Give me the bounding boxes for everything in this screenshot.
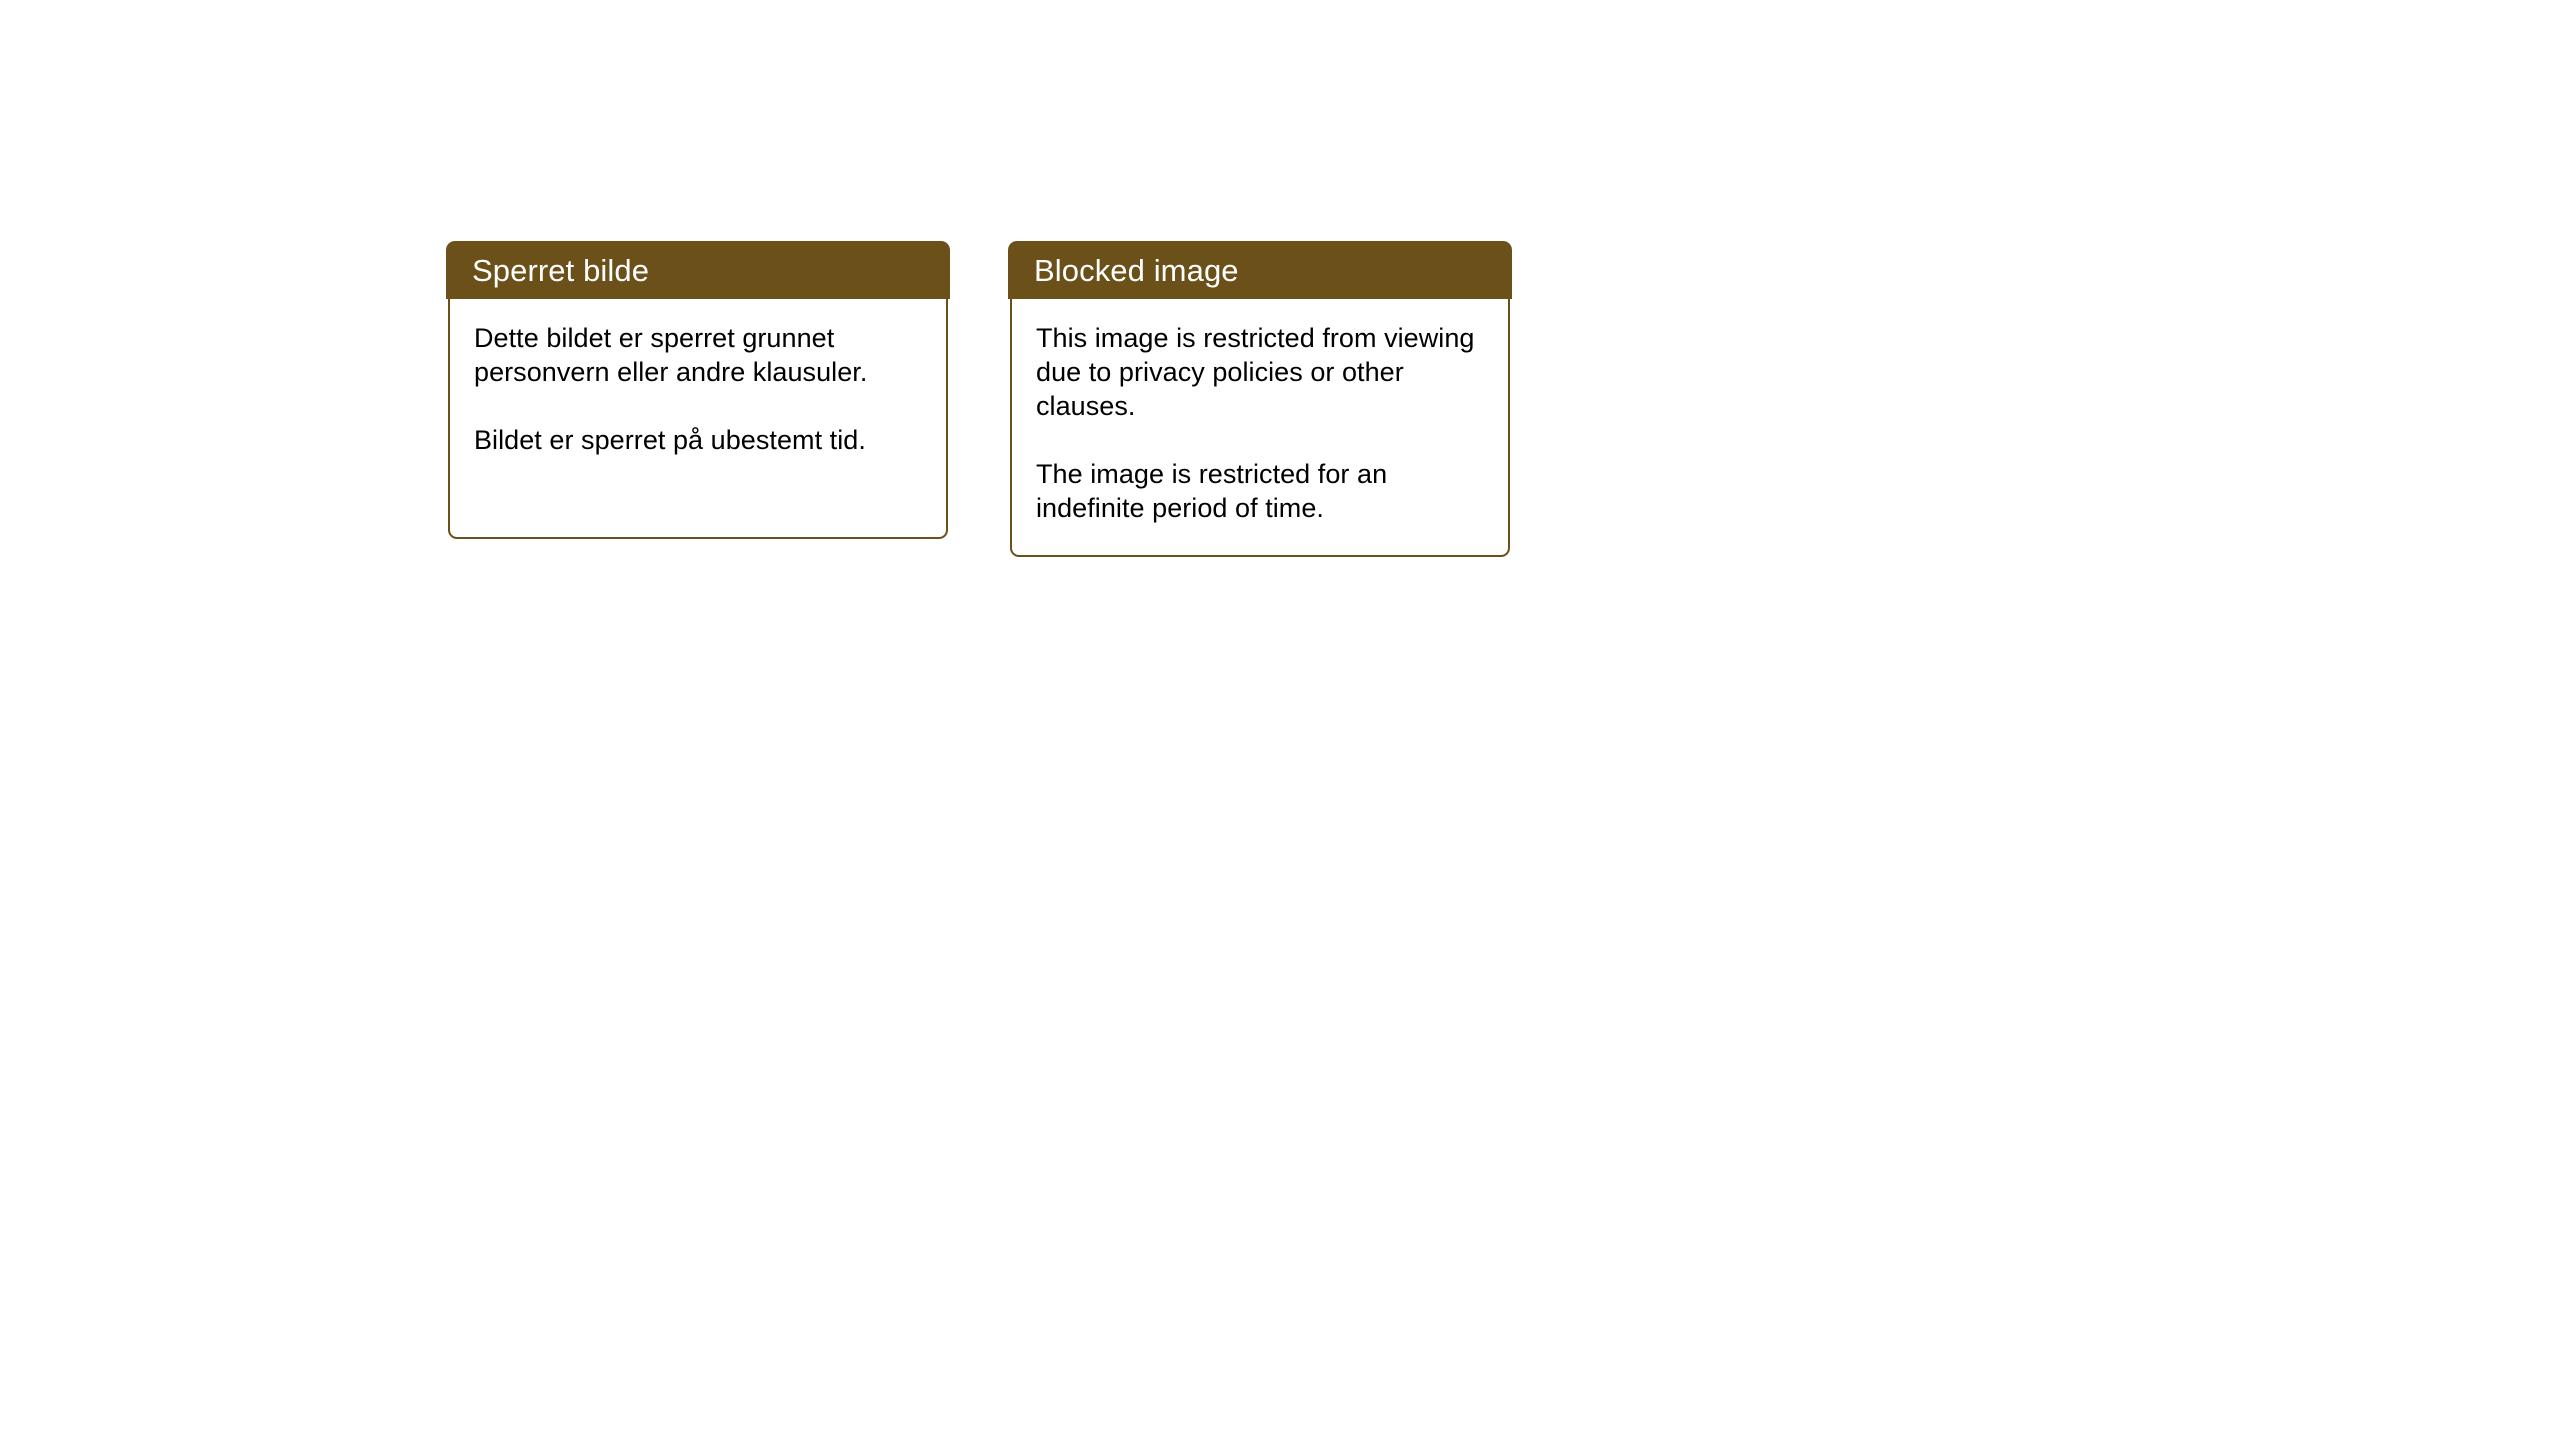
notice-card-group: Sperret bilde Dette bildet er sperret gr… bbox=[448, 241, 1510, 557]
notice-title-en: Blocked image bbox=[1034, 255, 1239, 286]
notice-paragraph-no-2: Bildet er sperret på ubestemt tid. bbox=[474, 423, 922, 457]
notice-paragraph-en-2: The image is restricted for an indefinit… bbox=[1036, 457, 1484, 525]
notice-header-en: Blocked image bbox=[1008, 241, 1512, 299]
blocked-image-notice-en: Blocked image This image is restricted f… bbox=[1010, 241, 1510, 557]
notice-paragraph-no-1: Dette bildet er sperret grunnet personve… bbox=[474, 321, 922, 389]
blocked-image-notice-no: Sperret bilde Dette bildet er sperret gr… bbox=[448, 241, 948, 539]
notice-paragraph-en-1: This image is restricted from viewing du… bbox=[1036, 321, 1484, 423]
notice-body-en: This image is restricted from viewing du… bbox=[1010, 299, 1510, 557]
notice-title-no: Sperret bilde bbox=[472, 255, 649, 286]
page-canvas: Sperret bilde Dette bildet er sperret gr… bbox=[0, 0, 2560, 1440]
notice-body-no: Dette bildet er sperret grunnet personve… bbox=[448, 299, 948, 539]
notice-header-no: Sperret bilde bbox=[446, 241, 950, 299]
